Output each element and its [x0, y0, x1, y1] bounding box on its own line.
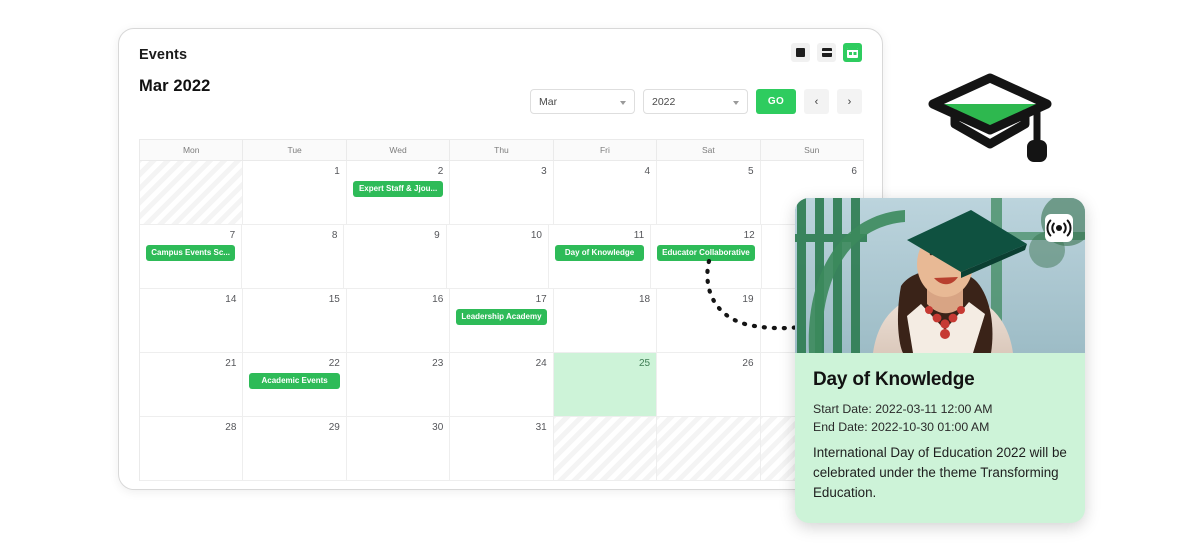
month-select-value: Mar	[539, 96, 557, 108]
event-chip[interactable]: Educator Collaborative	[657, 245, 755, 261]
calendar-day-cell-19[interactable]: 19	[657, 289, 760, 353]
screenshot-stage: Events Mar 2022 Mar 2022 GO	[0, 0, 1200, 550]
weekday-header-wed: Wed	[347, 140, 450, 161]
calendar-day-cell-18[interactable]: 18	[554, 289, 657, 353]
day-number: 28	[146, 422, 236, 433]
event-chip[interactable]: Academic Events	[249, 373, 339, 389]
calendar-day-cell-8[interactable]: 8	[242, 225, 344, 289]
calendar-day-cell-29[interactable]: 29	[243, 417, 346, 481]
day-number: 12	[657, 230, 755, 241]
day-number: 30	[353, 422, 443, 433]
calendar-day-cell-28[interactable]: 28	[140, 417, 243, 481]
event-start-date: Start Date: 2022-03-11 12:00 AM	[813, 400, 1067, 418]
calendar-week-row: 2122Academic Events2324252627	[140, 353, 863, 417]
day-number: 17	[456, 294, 546, 305]
weekday-header-sun: Sun	[761, 140, 863, 161]
calendar-day-cell-1[interactable]: 1	[243, 161, 346, 225]
weekday-header-thu: Thu	[450, 140, 553, 161]
calendar-day-cell-2[interactable]: 2Expert Staff & Jjou...	[347, 161, 450, 225]
day-number: 6	[767, 166, 857, 177]
chevron-down-icon	[733, 101, 739, 105]
calendar-day-cell-4[interactable]: 4	[554, 161, 657, 225]
calendar-icon	[847, 48, 858, 58]
calendar-day-cell-30[interactable]: 30	[347, 417, 450, 481]
day-number: 19	[663, 294, 753, 305]
view-toggle-list-button[interactable]	[817, 43, 836, 62]
year-select-value: 2022	[652, 96, 675, 108]
view-toggle-day-button[interactable]	[791, 43, 810, 62]
go-button[interactable]: GO	[756, 89, 796, 114]
view-toggle-month-button[interactable]	[843, 43, 862, 62]
calendar-day-cell-24[interactable]: 24	[450, 353, 553, 417]
square-icon	[796, 48, 805, 57]
day-number: 21	[146, 358, 236, 369]
event-detail-body: Day of Knowledge Start Date: 2022-03-11 …	[795, 353, 1085, 503]
calendar-day-cell-empty	[554, 417, 657, 481]
day-number: 8	[248, 230, 337, 241]
day-number: 15	[249, 294, 339, 305]
day-number: 3	[456, 166, 546, 177]
calendar-day-cell-3[interactable]: 3	[450, 161, 553, 225]
graduation-cap-icon	[925, 62, 1055, 167]
event-chip[interactable]: Day of Knowledge	[555, 245, 644, 261]
day-number: 25	[560, 358, 650, 369]
previous-month-button[interactable]: ‹	[804, 89, 829, 114]
calendar-day-cell-16[interactable]: 16	[347, 289, 450, 353]
day-number: 23	[353, 358, 443, 369]
chevron-down-icon	[620, 101, 626, 105]
calendar-day-cell-17[interactable]: 17Leadership Academy	[450, 289, 553, 353]
calendar-day-cell-31[interactable]: 31	[450, 417, 553, 481]
day-number: 31	[456, 422, 546, 433]
calendar-day-cell-5[interactable]: 5	[657, 161, 760, 225]
calendar-day-cell-12[interactable]: 12Educator Collaborative	[651, 225, 762, 289]
calendar-day-cell-21[interactable]: 21	[140, 353, 243, 417]
day-number: 14	[146, 294, 236, 305]
event-chip[interactable]: Expert Staff & Jjou...	[353, 181, 443, 197]
events-calendar-panel: Events Mar 2022 Mar 2022 GO	[118, 28, 883, 490]
list-rows-icon	[822, 48, 832, 57]
day-number: 2	[353, 166, 443, 177]
day-number: 22	[249, 358, 339, 369]
day-number: 9	[350, 230, 439, 241]
calendar-day-cell-22[interactable]: 22Academic Events	[243, 353, 346, 417]
calendar-day-cell-11[interactable]: 11Day of Knowledge	[549, 225, 651, 289]
day-number: 18	[560, 294, 650, 305]
year-select[interactable]: 2022	[643, 89, 748, 114]
weekday-header-tue: Tue	[243, 140, 346, 161]
event-photo	[795, 198, 1085, 353]
calendar-controls: Mar 2022 GO ‹ ›	[530, 89, 862, 114]
day-number: 16	[353, 294, 443, 305]
calendar-day-cell-15[interactable]: 15	[243, 289, 346, 353]
event-end-date: End Date: 2022-10-30 01:00 AM	[813, 418, 1067, 436]
weekday-header-sat: Sat	[657, 140, 760, 161]
calendar-day-cell-26[interactable]: 26	[657, 353, 760, 417]
event-title: Day of Knowledge	[813, 369, 1067, 391]
calendar-day-cell-23[interactable]: 23	[347, 353, 450, 417]
calendar-week-row: 14151617Leadership Academy181920	[140, 289, 863, 353]
day-number: 1	[249, 166, 339, 177]
calendar-day-cell-10[interactable]: 10	[447, 225, 549, 289]
weekday-header-mon: Mon	[140, 140, 243, 161]
event-description: International Day of Education 2022 will…	[813, 443, 1067, 503]
day-number: 29	[249, 422, 339, 433]
calendar-day-cell-25[interactable]: 25	[554, 353, 657, 417]
page-title: Events	[139, 47, 862, 63]
day-number: 7	[146, 230, 235, 241]
calendar-day-cell-14[interactable]: 14	[140, 289, 243, 353]
calendar-day-cell-empty	[657, 417, 760, 481]
day-number: 24	[456, 358, 546, 369]
broadcast-icon[interactable]	[1045, 214, 1073, 242]
weekday-header-fri: Fri	[554, 140, 657, 161]
event-detail-popup: Day of Knowledge Start Date: 2022-03-11 …	[795, 198, 1085, 523]
month-select[interactable]: Mar	[530, 89, 635, 114]
day-number: 4	[560, 166, 650, 177]
day-number: 5	[663, 166, 753, 177]
calendar-day-cell-empty	[140, 161, 243, 225]
event-chip[interactable]: Leadership Academy	[456, 309, 546, 325]
event-chip[interactable]: Campus Events Sc...	[146, 245, 235, 261]
next-month-button[interactable]: ›	[837, 89, 862, 114]
calendar-week-row: 12Expert Staff & Jjou...3456	[140, 161, 863, 225]
view-toggle-group	[791, 43, 862, 62]
weekday-header-row: MonTueWedThuFriSatSun	[140, 140, 863, 161]
calendar-weeks: 12Expert Staff & Jjou...34567Campus Even…	[140, 161, 863, 481]
calendar-day-cell-9[interactable]: 9	[344, 225, 446, 289]
calendar-week-row: 28293031	[140, 417, 863, 481]
day-number: 11	[555, 230, 644, 241]
calendar-week-row: 7Campus Events Sc...891011Day of Knowled…	[140, 225, 863, 289]
day-number: 10	[453, 230, 542, 241]
calendar-day-cell-7[interactable]: 7Campus Events Sc...	[140, 225, 242, 289]
calendar-grid: MonTueWedThuFriSatSun 12Expert Staff & J…	[139, 139, 864, 481]
day-number: 26	[663, 358, 753, 369]
